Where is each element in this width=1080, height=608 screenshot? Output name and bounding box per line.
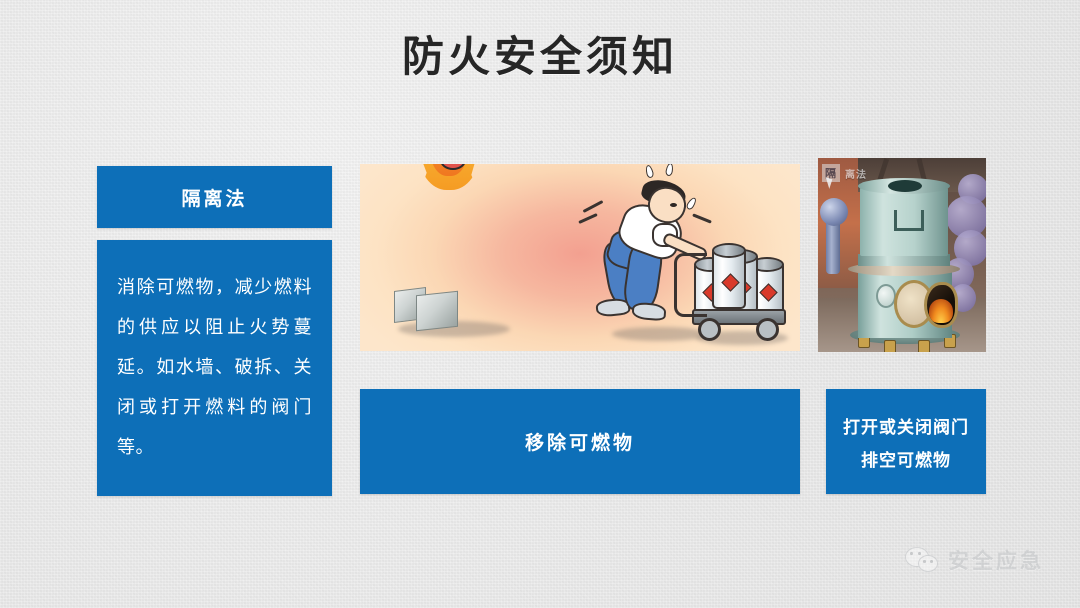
worker-eye-icon: [670, 203, 677, 207]
method-body-text: 消除可燃物，减少燃料的供应以阻止火势蔓延。如水墙、破拆、关闭或打开燃料的阀门等。: [97, 268, 332, 468]
crate-icon: [416, 291, 458, 331]
worker-shoe-icon: [631, 302, 666, 321]
caption-remove-label: 移除可燃物: [525, 428, 635, 455]
method-header-panel: 隔离法: [97, 166, 332, 228]
tank-marking-icon: [894, 210, 924, 231]
tank-foot-icon: [884, 340, 896, 352]
inspection-port-icon: [876, 284, 896, 308]
sweat-drop-icon: [645, 164, 655, 178]
motion-line-icon: [578, 213, 597, 224]
open-hatch-icon: [924, 282, 958, 328]
cart-wheel-icon: [756, 318, 779, 341]
overlay-text: 离法: [845, 166, 867, 181]
wechat-icon: [905, 547, 939, 573]
hand-cart-with-drums-icon: [690, 223, 786, 339]
watermark-text: 安全应急: [948, 545, 1044, 575]
cartoon-illustration: [360, 164, 800, 351]
cart-handle-icon: [674, 253, 707, 317]
furnace-fire-icon: [929, 299, 953, 323]
boiler-photo: 隔 离法: [818, 158, 986, 352]
slide-canvas: 防火安全须知 隔离法 消除可燃物，减少燃料的供应以阻止火势蔓延。如水墙、破拆、关…: [0, 0, 1080, 608]
cart-wheel-icon: [698, 318, 721, 341]
caption-valve-label-line1: 打开或关闭阀门: [843, 413, 969, 438]
method-body-panel: 消除可燃物，减少燃料的供应以阻止火势蔓延。如水墙、破拆、关闭或打开燃料的阀门等。: [97, 240, 332, 496]
page-title: 防火安全须知: [0, 34, 1080, 80]
method-header-label: 隔离法: [181, 184, 247, 211]
chemical-drum-icon: [712, 247, 746, 309]
tank-foot-icon: [918, 340, 930, 352]
tank-opening-icon: [888, 180, 922, 192]
pipe-valve-icon: [820, 198, 848, 226]
caption-valve-operations: 打开或关闭阀门 排空可燃物: [826, 389, 986, 494]
caption-remove-combustibles: 移除可燃物: [360, 389, 800, 494]
sweat-drop-icon: [665, 164, 674, 177]
motion-line-icon: [583, 200, 604, 213]
angry-fire-icon: [390, 194, 520, 329]
caption-valve-label-line2: 排空可燃物: [861, 446, 951, 471]
watermark: 安全应急: [905, 545, 1044, 575]
sweat-drop-icon: [685, 196, 698, 211]
